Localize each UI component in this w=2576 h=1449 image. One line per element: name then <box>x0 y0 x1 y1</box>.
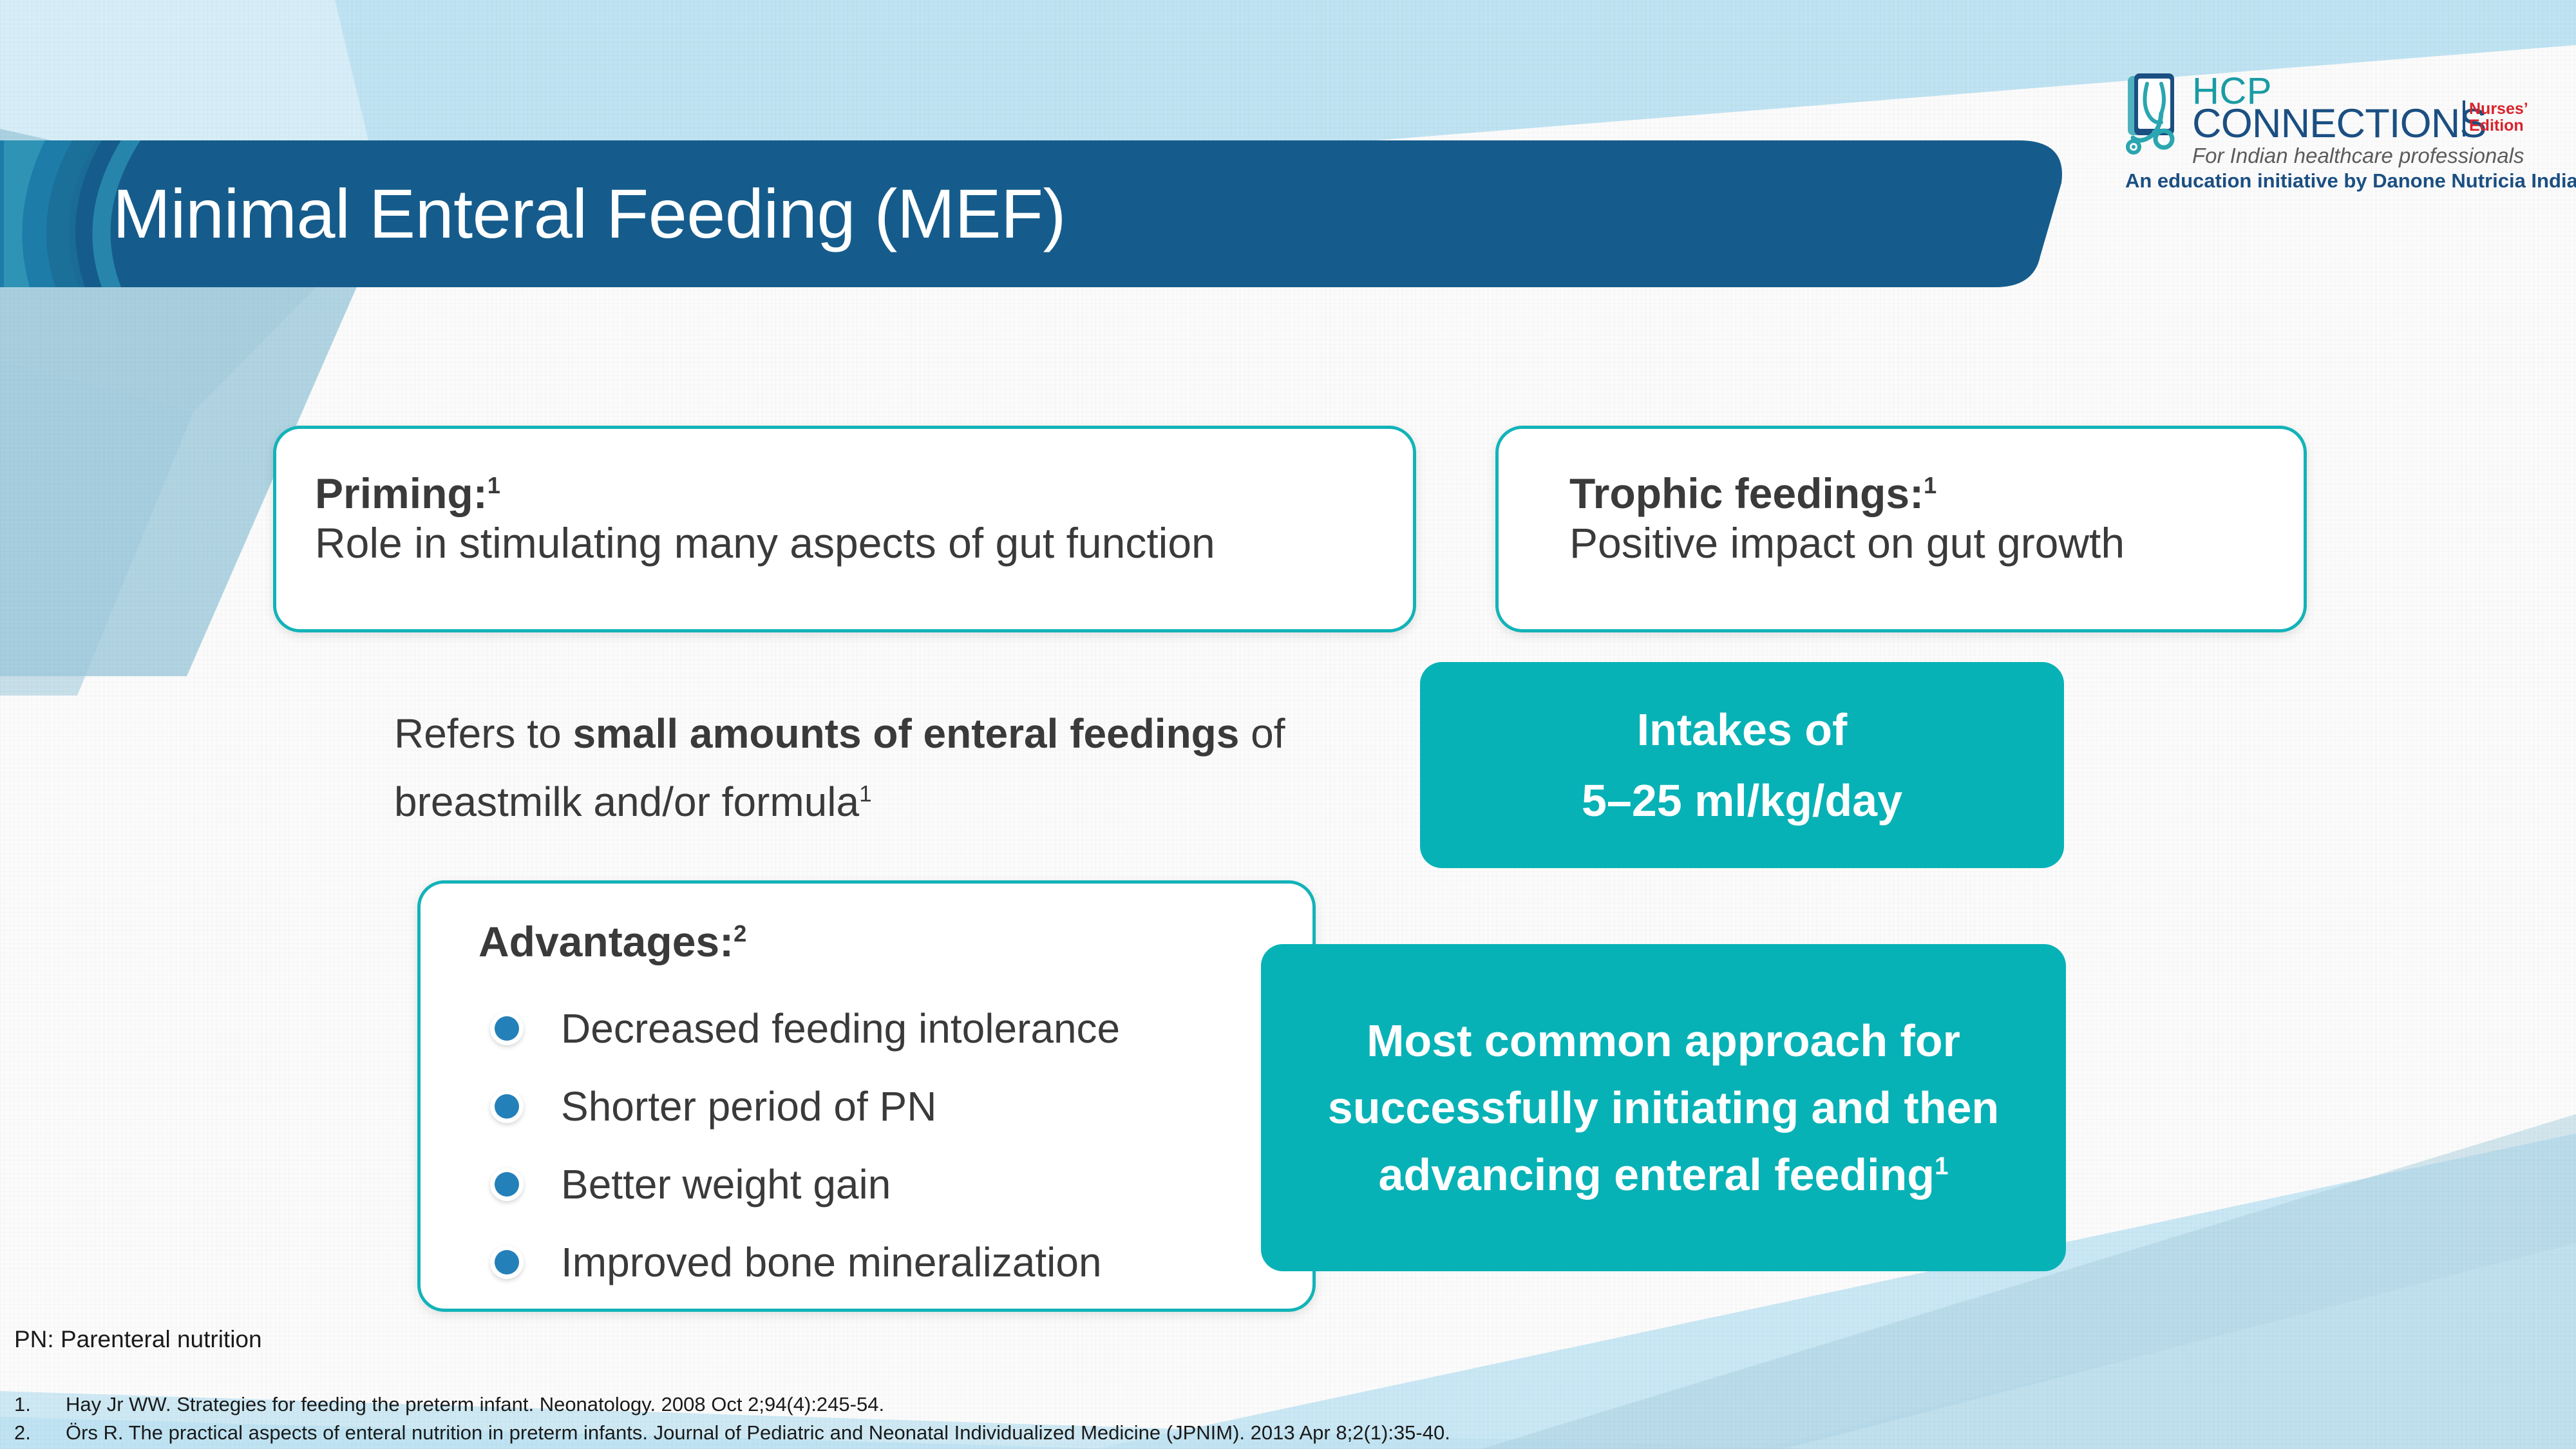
list-item-label: Decreased feeding intolerance <box>561 1005 1120 1052</box>
card-priming-body: Role in stimulating many aspects of gut … <box>315 518 1215 568</box>
callout-approach-line3-text: advancing enteral feeding <box>1379 1150 1935 1200</box>
definition-superscript: 1 <box>859 782 872 807</box>
advantages-list: Decreased feeding intolerance Shorter pe… <box>478 989 1290 1301</box>
logo-divider-rule <box>2463 100 2465 137</box>
abbreviation-note: PN: Parenteral nutrition <box>14 1325 262 1354</box>
references-list: 1. Hay Jr WW. Strategies for feeding the… <box>14 1390 1946 1447</box>
definition-emphasis: small amounts of enteral feedings <box>573 710 1239 757</box>
reference-text: Hay Jr WW. Strategies for feeding the pr… <box>66 1390 1946 1419</box>
callout-approach-line2: successfully initiating and then <box>1328 1074 1999 1141</box>
card-trophic-body: Positive impact on gut growth <box>1569 518 2125 568</box>
reference-text: Örs R. The practical aspects of enteral … <box>66 1419 1946 1447</box>
logo-initiative-line: An education initiative by Danone Nutric… <box>2125 170 2518 192</box>
page-title: Minimal Enteral Feeding (MEF) <box>113 173 1066 255</box>
card-trophic-feedings: Trophic feedings:1 Positive impact on gu… <box>1495 426 2307 632</box>
hcp-connections-logo: HCP CONNECTIONS Nurses’ Edition For Indi… <box>2125 72 2518 194</box>
slide-canvas: Minimal Enteral Feeding (MEF) HCP CONNEC… <box>0 0 2576 1449</box>
logo-badge-nurses: Nurses’ <box>2469 100 2518 118</box>
card-priming-heading-text: Priming: <box>315 469 488 517</box>
list-item-label: Improved bone mineralization <box>561 1239 1102 1285</box>
bullet-dot-icon <box>495 1250 519 1274</box>
bullet-dot-icon <box>495 1172 519 1197</box>
reference-number: 2. <box>14 1419 66 1447</box>
list-item-label: Shorter period of PN <box>561 1083 936 1130</box>
definition-paragraph: Refers to small amounts of enteral feedi… <box>394 699 1399 836</box>
card-advantages-heading: Advantages:2 <box>478 917 746 966</box>
card-trophic-content: Trophic feedings:1 Positive impact on gu… <box>1569 469 2125 568</box>
bullet-dot-icon <box>495 1016 519 1041</box>
card-priming-heading-superscript: 1 <box>488 472 500 498</box>
definition-lead: Refers to <box>394 710 573 757</box>
slide-title-bar: Minimal Enteral Feeding (MEF) <box>0 140 2067 287</box>
callout-intake-line2: 5–25 ml/kg/day <box>1582 765 1902 836</box>
card-trophic-heading-text: Trophic feedings: <box>1569 469 1924 517</box>
callout-intake-amount: Intakes of 5–25 ml/kg/day <box>1420 662 2064 868</box>
bullet-dot-icon <box>495 1094 519 1119</box>
card-priming: Priming:1 Role in stimulating many aspec… <box>273 426 1416 632</box>
reference-item: 1. Hay Jr WW. Strategies for feeding the… <box>14 1390 1946 1419</box>
callout-common-approach: Most common approach for successfully in… <box>1261 944 2066 1271</box>
card-priming-content: Priming:1 Role in stimulating many aspec… <box>315 469 1215 568</box>
callout-intake-lines: Intakes of 5–25 ml/kg/day <box>1582 694 1902 836</box>
reference-item: 2. Örs R. The practical aspects of enter… <box>14 1419 1946 1447</box>
card-trophic-heading: Trophic feedings:1 <box>1569 469 2125 518</box>
list-item: Better weight gain <box>478 1145 1290 1223</box>
callout-approach-lines: Most common approach for successfully in… <box>1328 1007 1999 1208</box>
tablet-stethoscope-icon <box>2125 72 2190 170</box>
card-advantages-heading-text: Advantages: <box>478 918 734 965</box>
logo-tagline: For Indian healthcare professionals <box>2192 144 2524 167</box>
reference-number: 1. <box>14 1390 66 1419</box>
logo-badge-edition: Edition <box>2469 117 2518 135</box>
callout-approach-line3: advancing enteral feeding1 <box>1328 1141 1999 1208</box>
list-item: Improved bone mineralization <box>478 1223 1290 1301</box>
callout-intake-line1: Intakes of <box>1582 694 1902 765</box>
callout-approach-line1: Most common approach for <box>1328 1007 1999 1074</box>
list-item: Decreased feeding intolerance <box>478 989 1290 1067</box>
card-advantages: Advantages:2 Decreased feeding intoleran… <box>417 880 1316 1312</box>
card-trophic-heading-superscript: 1 <box>1924 472 1937 498</box>
logo-line-connections: CONNECTIONS <box>2192 103 2486 144</box>
list-item-label: Better weight gain <box>561 1161 891 1207</box>
card-advantages-heading-superscript: 2 <box>734 920 746 947</box>
callout-approach-superscript: 1 <box>1935 1153 1948 1180</box>
list-item: Shorter period of PN <box>478 1067 1290 1145</box>
card-priming-heading: Priming:1 <box>315 469 1215 518</box>
